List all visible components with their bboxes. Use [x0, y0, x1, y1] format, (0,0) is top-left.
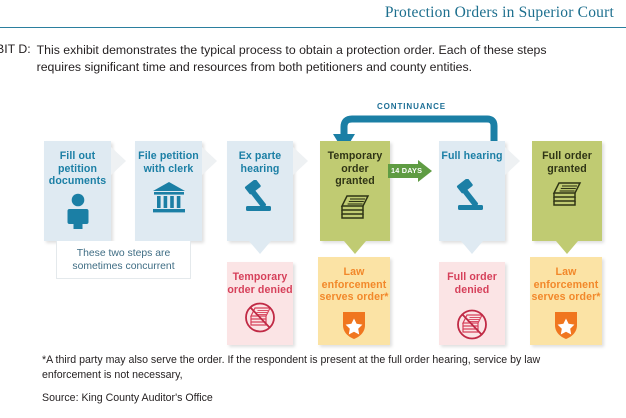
- document-stack-icon: [335, 193, 375, 225]
- document-stack-icon: [547, 180, 587, 212]
- courthouse-icon: [151, 180, 187, 214]
- concurrent-steps-note-text: These two steps are sometimes concurrent: [57, 247, 190, 273]
- node-label: Ex parte hearing: [227, 150, 293, 175]
- node-ex-parte-hearing[interactable]: Ex parte hearing: [227, 141, 293, 241]
- flow-connector-chevron: [111, 147, 126, 175]
- flow-connector-down: [344, 241, 366, 254]
- sheriff-badge-icon: [551, 309, 581, 341]
- exhibit-description: This exhibit demonstrates the typical pr…: [37, 42, 557, 75]
- flow-connector-down: [556, 241, 578, 254]
- footnote-text: *A third party may also serve the order.…: [42, 353, 582, 382]
- exhibit-page: Protection Orders in Superior Court BIT …: [0, 0, 626, 418]
- gavel-icon: [452, 179, 492, 213]
- process-flow-diagram: CONTINUANCE Fill out petition documents …: [0, 100, 626, 355]
- page-title: Protection Orders in Superior Court: [385, 4, 614, 22]
- node-label: File petition with clerk: [135, 150, 202, 175]
- node-label: Law enforcement serves order*: [318, 266, 390, 304]
- node-label: Temporary order denied: [227, 271, 293, 296]
- node-law-enforcement-serves-order-2[interactable]: Law enforcement serves order*: [530, 257, 602, 345]
- no-documents-icon: [454, 308, 490, 342]
- node-law-enforcement-serves-order-1[interactable]: Law enforcement serves order*: [318, 257, 390, 345]
- node-temporary-order-granted[interactable]: Temporary order granted: [320, 141, 390, 241]
- source-text: Source: King County Auditor's Office: [42, 392, 213, 404]
- node-label: Full order granted: [532, 150, 602, 175]
- fourteen-days-arrow: 14 DAYS: [388, 160, 432, 182]
- node-label: Temporary order granted: [320, 150, 390, 188]
- continuance-label: CONTINUANCE: [377, 102, 446, 111]
- node-label: Fill out petition documents: [44, 150, 111, 188]
- node-label: Full order denied: [439, 271, 505, 296]
- node-full-order-granted[interactable]: Full order granted: [532, 141, 602, 241]
- no-documents-icon: [242, 301, 278, 335]
- node-label: Full hearing: [441, 150, 502, 163]
- flow-connector-down: [249, 241, 271, 254]
- header-divider: [0, 27, 626, 28]
- node-label: Law enforcement serves order*: [530, 266, 602, 304]
- flow-connector-chevron: [202, 147, 217, 175]
- intro-paragraph: BIT D: This exhibit demonstrates the typ…: [0, 42, 606, 75]
- node-file-petition-with-clerk[interactable]: File petition with clerk: [135, 141, 202, 241]
- node-full-hearing[interactable]: Full hearing: [439, 141, 505, 241]
- node-full-order-denied[interactable]: Full order denied: [439, 262, 505, 345]
- node-fill-out-petition-documents[interactable]: Fill out petition documents: [44, 141, 111, 241]
- flow-connector-chevron: [293, 147, 308, 175]
- node-temporary-order-denied[interactable]: Temporary order denied: [227, 262, 293, 345]
- gavel-icon: [240, 180, 280, 214]
- fourteen-days-label: 14 DAYS: [391, 166, 422, 175]
- sheriff-badge-icon: [339, 309, 369, 341]
- flow-connector-down: [461, 241, 483, 254]
- person-icon: [63, 193, 93, 229]
- concurrent-steps-note: These two steps are sometimes concurrent: [56, 241, 191, 279]
- exhibit-label: BIT D:: [0, 42, 37, 75]
